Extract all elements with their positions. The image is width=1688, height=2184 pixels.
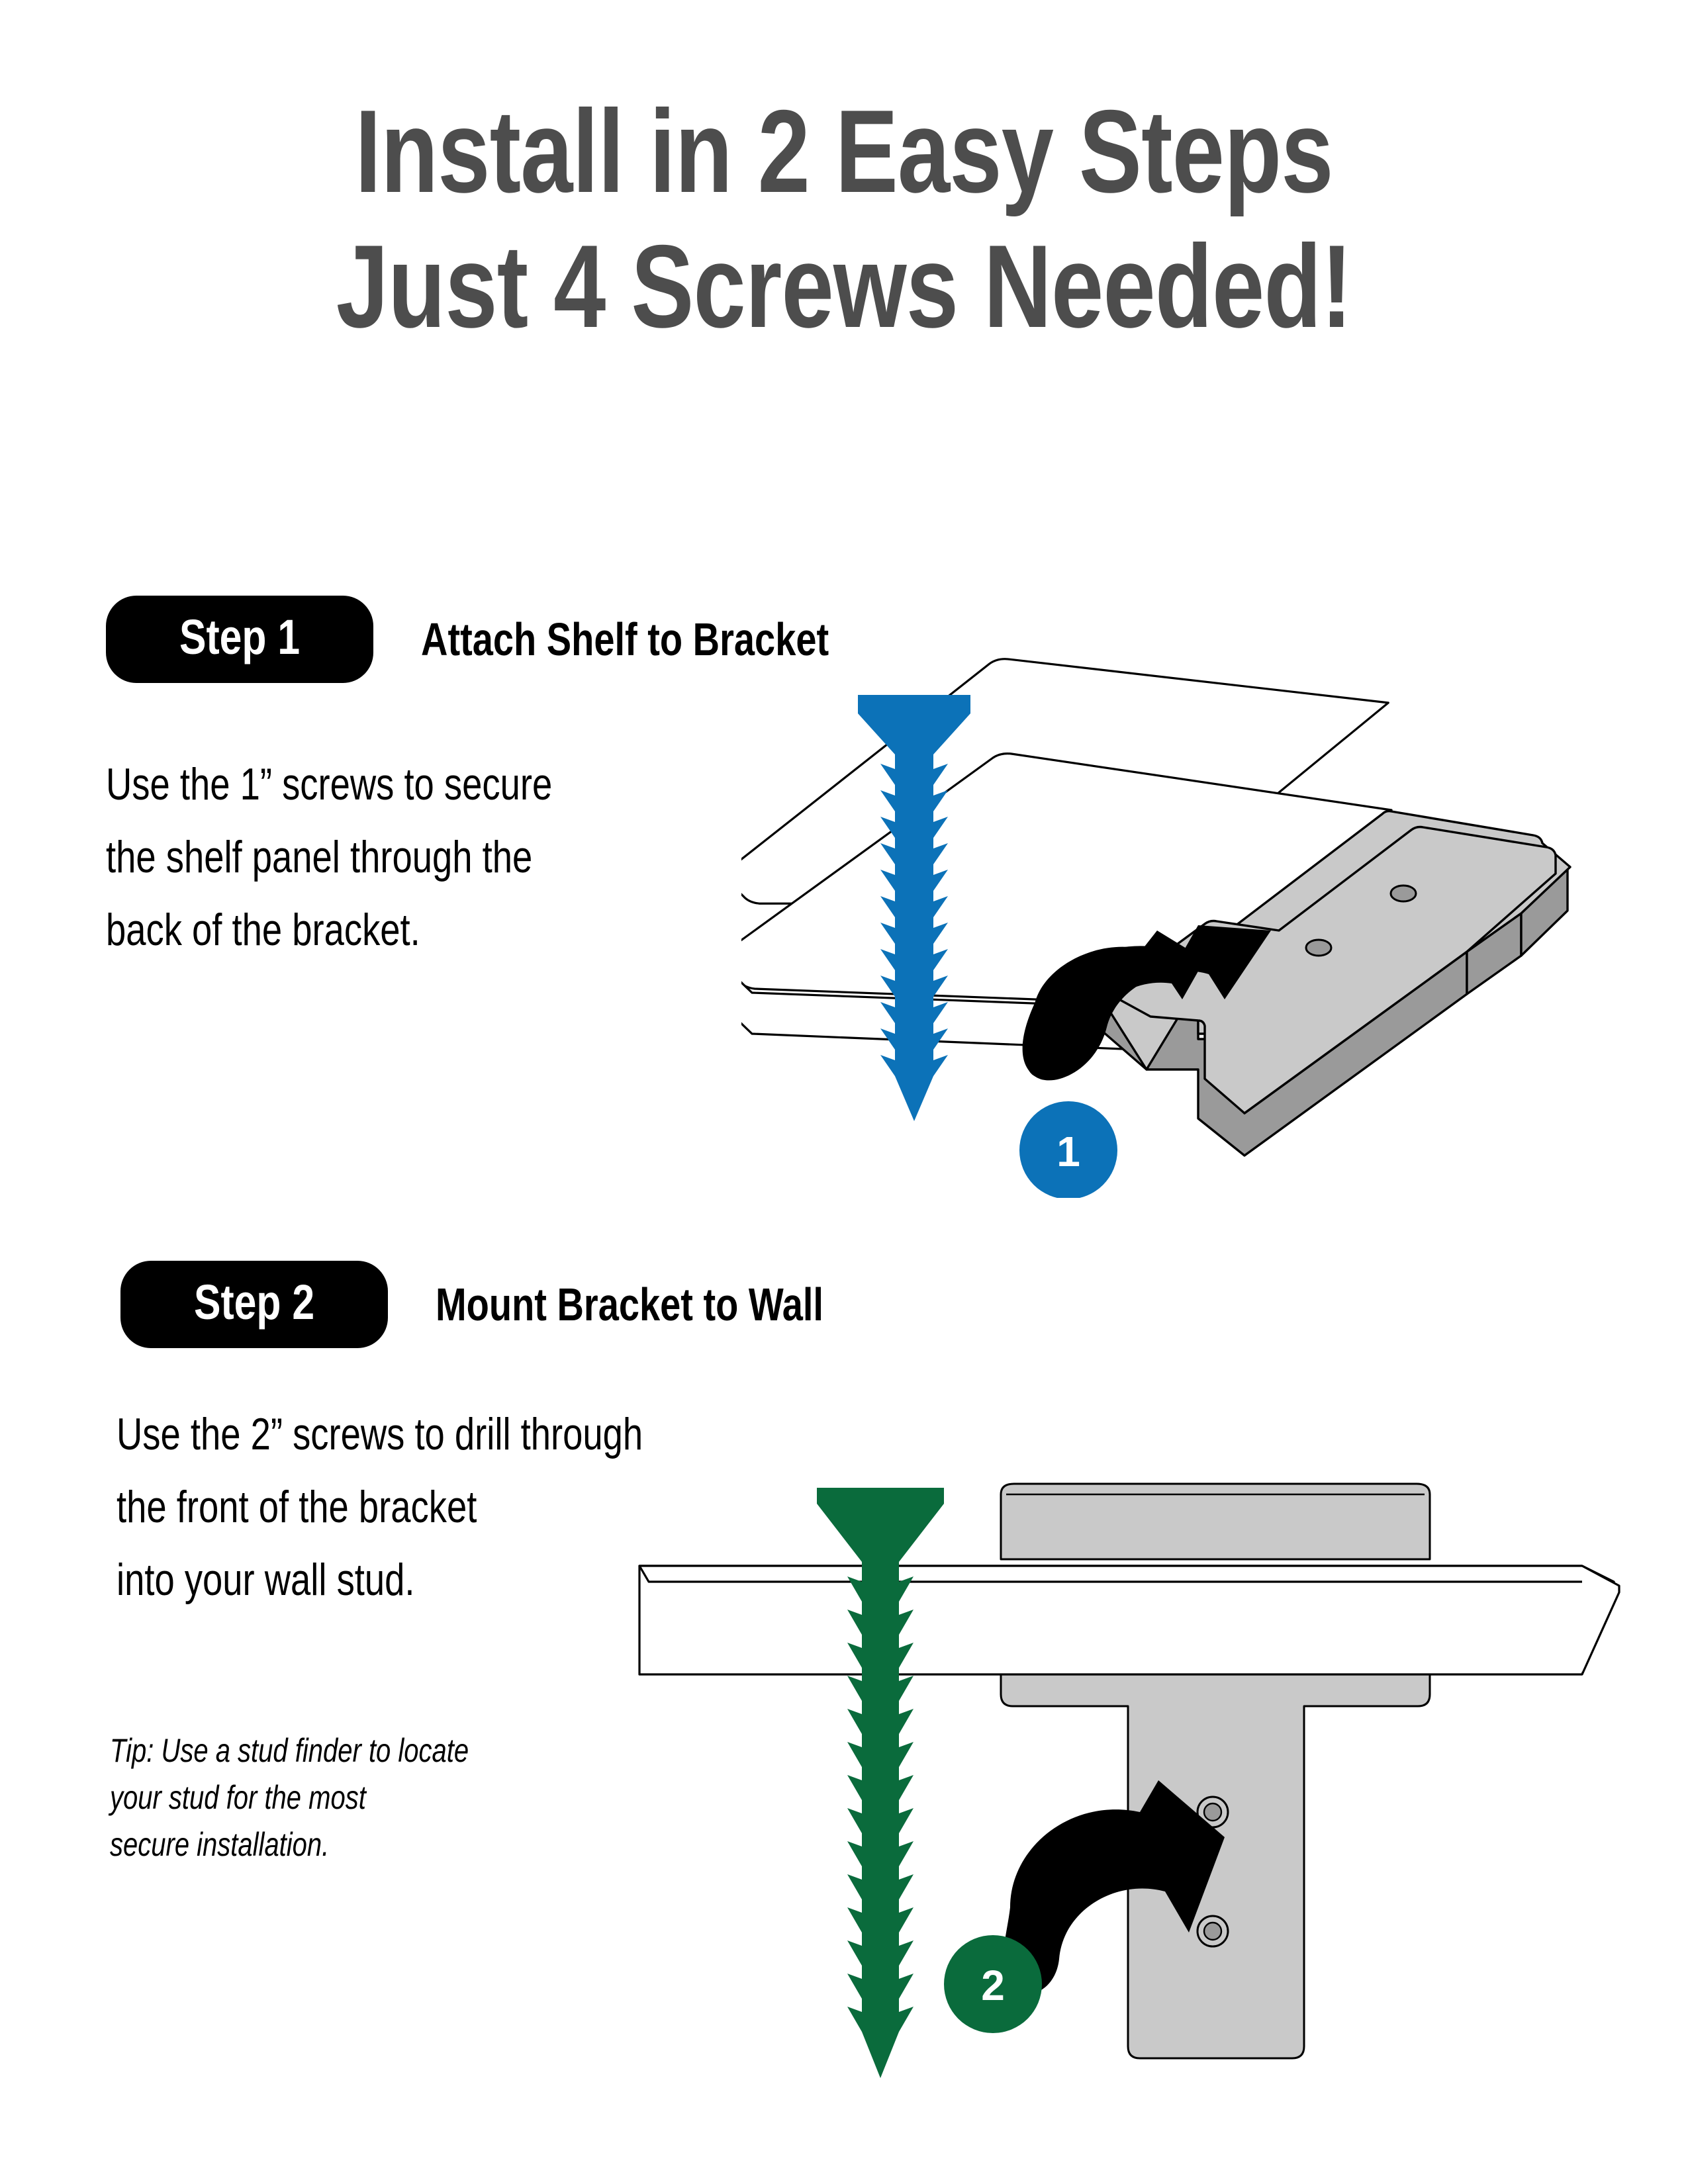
step-marker-badge: 1 (1019, 1101, 1117, 1198)
step-2-tip-line-2: your stud for the most (110, 1774, 559, 1821)
step-2-body-line-1: Use the 2” screws to drill through (117, 1398, 774, 1471)
step-1-illustration: 1 (741, 536, 1622, 1198)
step-1-badge: Step 1 (106, 596, 373, 683)
step-2-tip: Tip: Use a stud finder to locate your st… (110, 1727, 559, 1868)
title-line-1: Install in 2 Easy Steps (169, 93, 1519, 210)
bracket-screw-hole (1197, 1916, 1228, 1946)
step-2-tip-line-3: secure installation. (110, 1821, 559, 1868)
step-marker-label: 1 (1056, 1128, 1080, 1175)
page-title: Install in 2 Easy Steps Just 4 Screws Ne… (0, 93, 1688, 345)
step-2-illustration: 2 (635, 1476, 1628, 2085)
step-2-header: Step 2 Mount Bracket to Wall (120, 1261, 920, 1348)
step-2-heading: Mount Bracket to Wall (436, 1281, 920, 1328)
shelf-panel-icon (639, 1566, 1619, 1674)
step-2-tip-line-1: Tip: Use a stud finder to locate (110, 1727, 559, 1774)
step-2-badge: Step 2 (120, 1261, 388, 1348)
step-2-badge-label: Step 2 (194, 1278, 314, 1327)
step-1-body-line-1: Use the 1” screws to secure (106, 748, 664, 821)
step-1-badge-label: Step 1 (179, 613, 300, 662)
instruction-sheet: Install in 2 Easy Steps Just 4 Screws Ne… (0, 0, 1688, 2184)
step-marker-badge: 2 (944, 1935, 1042, 2033)
step-1-body-line-2: the shelf panel through the (106, 821, 664, 893)
step-1-body: Use the 1” screws to secure the shelf pa… (106, 748, 664, 966)
step-marker-label: 2 (981, 1962, 1005, 2009)
title-line-2: Just 4 Screws Needed! (169, 228, 1519, 345)
step-1-body-line-3: back of the bracket. (106, 893, 664, 966)
